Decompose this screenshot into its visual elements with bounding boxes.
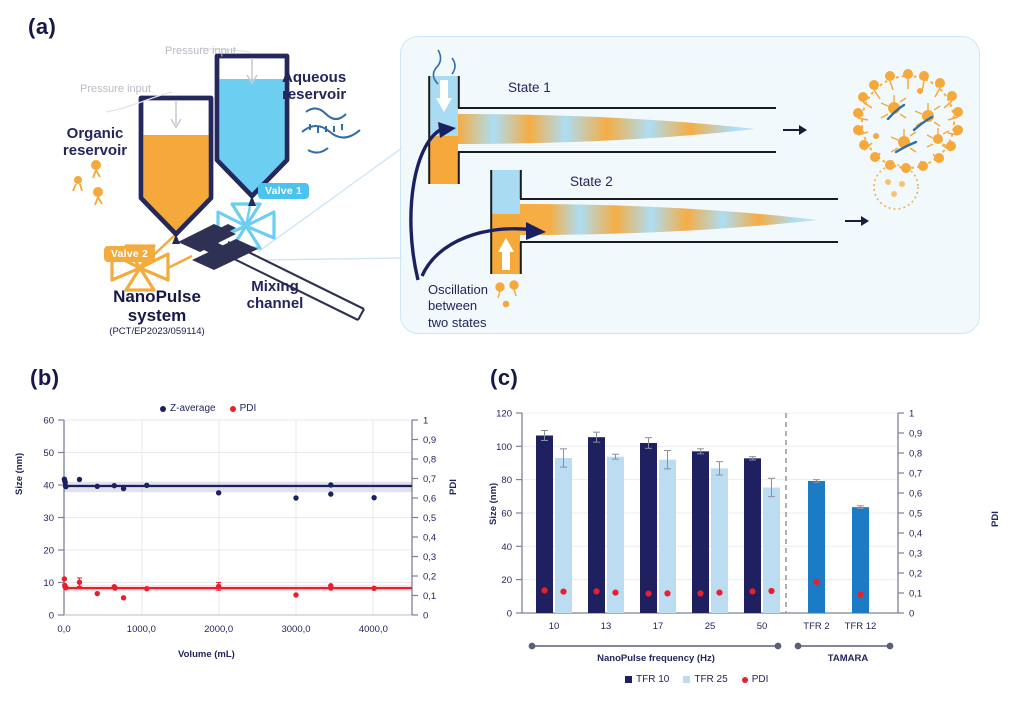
panel-b-data-point (77, 477, 82, 482)
oscillation-label-line3: two states (428, 315, 518, 331)
panel-b-data-point (95, 484, 100, 489)
panel-c-letter: (c) (490, 365, 518, 391)
panel-c-group-axis-arrows (486, 638, 1016, 660)
panel-c-pdi-point (664, 590, 670, 596)
panel-b-data-point (293, 495, 298, 500)
system-name-line1: NanoPulse (72, 288, 242, 307)
panel-b-y2-tick-labels: 00,10,20,30,40,50,60,70,80,91 (423, 416, 436, 622)
panel-a: (a) (0, 0, 1024, 355)
panel-b-data-point (328, 585, 333, 590)
state-1-outlet-arrow (783, 125, 807, 135)
legend-label-pdi-c: PDI (752, 674, 769, 685)
legend-label-tfr25: TFR 25 (694, 674, 727, 685)
panel-c-pdi-point (768, 588, 774, 594)
svg-text:80: 80 (501, 475, 512, 486)
panel-b-data-point (63, 585, 68, 590)
svg-text:0: 0 (909, 609, 914, 620)
panel-c-bar-tamara (808, 481, 825, 613)
svg-text:1: 1 (909, 409, 914, 420)
lipid-particles (73, 160, 103, 205)
panel-c-bar-tfr10 (692, 451, 709, 613)
panel-b-data-point (95, 591, 100, 596)
svg-text:120: 120 (496, 409, 512, 420)
svg-text:0,9: 0,9 (909, 429, 922, 440)
svg-text:TFR 2: TFR 2 (803, 621, 829, 632)
svg-text:17: 17 (653, 621, 664, 632)
svg-text:0,7: 0,7 (423, 474, 436, 485)
svg-text:0,4: 0,4 (909, 529, 922, 540)
legend-item-pdi-c: PDI (742, 674, 769, 685)
panel-b-x-tick-labels: 0,01000,02000,03000,04000,0 (57, 624, 387, 635)
svg-text:20: 20 (43, 546, 54, 557)
panel-c-group-label-nanopulse: NanoPulse frequency (Hz) (576, 653, 736, 664)
state-2-outlet-arrow (845, 216, 869, 226)
svg-text:30: 30 (43, 513, 54, 524)
svg-text:0: 0 (423, 611, 428, 622)
svg-text:4000,0: 4000,0 (359, 624, 388, 635)
panel-b-data-point (62, 576, 67, 581)
panel-c-x-tick-labels: 1013172550TFR 2TFR 12 (549, 621, 877, 632)
panel-b-data-point (144, 586, 149, 591)
aqueous-reservoir-label-line1: Aqueous (282, 70, 382, 87)
svg-text:0,6: 0,6 (909, 489, 922, 500)
panel-b-y-tick-labels: 0102030405060 (43, 416, 54, 622)
panel-c-ylabel: Size (nm) (488, 483, 499, 525)
panel-b-data-point (112, 483, 117, 488)
panel-c-legend: TFR 10 TFR 25 PDI (625, 674, 768, 685)
oscillation-label-line1: Oscillation (428, 282, 518, 298)
svg-text:20: 20 (501, 575, 512, 586)
svg-text:25: 25 (705, 621, 716, 632)
organic-reservoir-label-line2: reservoir (50, 143, 140, 160)
svg-text:60: 60 (43, 416, 54, 427)
state-2-group: State 2 (491, 170, 869, 307)
svg-text:0: 0 (507, 609, 512, 620)
svg-text:2000,0: 2000,0 (204, 624, 233, 635)
svg-text:40: 40 (501, 542, 512, 553)
panel-c-pdi-point (857, 592, 863, 598)
panel-b-data-point (328, 482, 333, 487)
svg-text:10: 10 (549, 621, 560, 632)
panel-b-data-point (112, 585, 117, 590)
panel-c-group-label-tamara: TAMARA (768, 653, 928, 664)
svg-text:1: 1 (423, 416, 428, 427)
organic-reservoir-label-line1: Organic (50, 126, 140, 143)
panel-c-bar-tfr10 (588, 437, 605, 613)
svg-text:0,5: 0,5 (909, 509, 922, 520)
panel-c-pdi-point (541, 587, 547, 593)
panel-b-ylabel: Size (nm) (14, 453, 25, 495)
panel-b-letter: (b) (30, 365, 60, 391)
panel-b-data-point (121, 486, 126, 491)
svg-text:60: 60 (501, 509, 512, 520)
svg-text:0,0: 0,0 (57, 624, 70, 635)
svg-text:0,9: 0,9 (423, 435, 436, 446)
legend-item-tfr25: TFR 25 (683, 674, 727, 685)
mixing-chip (178, 224, 258, 270)
svg-text:0,1: 0,1 (423, 591, 436, 602)
panel-c-pdi-point (697, 590, 703, 596)
patent-number: (PCT/EP2023/059114) (72, 326, 242, 337)
panel-b-xlabel: Volume (mL) (178, 649, 235, 660)
panel-c-pdi-point (645, 591, 651, 597)
svg-text:10: 10 (43, 578, 54, 589)
panel-c-bar-tfr10 (640, 443, 657, 613)
panel-b-data-layer (62, 476, 412, 600)
pressure-input-left-label: Pressure input (80, 83, 151, 95)
panel-b: (b) Z-average PDI (0, 355, 480, 705)
svg-text:50: 50 (43, 448, 54, 459)
panel-c-pdi-point (612, 590, 618, 596)
panel-b-data-point (328, 491, 333, 496)
panel-b-data-point (63, 484, 68, 489)
panel-c-bar-tfr25 (763, 488, 780, 614)
panel-c-pdi-point (560, 589, 566, 595)
rna-strands (302, 108, 360, 152)
svg-text:0,3: 0,3 (423, 552, 436, 563)
panel-b-data-point (371, 495, 376, 500)
svg-text:0: 0 (49, 611, 54, 622)
legend-label-tfr10: TFR 10 (636, 674, 669, 685)
svg-text:13: 13 (601, 621, 612, 632)
state-2-label-text: State 2 (570, 174, 613, 189)
panel-c-y2label: PDI (990, 511, 1001, 527)
panel-b-y2label: PDI (448, 479, 459, 495)
panel-c-pdi-point (593, 588, 599, 594)
svg-text:0,8: 0,8 (423, 455, 436, 466)
panel-c: (c) 020406080100120 (480, 355, 1024, 705)
pressure-input-right-label: Pressure input (165, 45, 236, 57)
panel-c-y2-tick-labels: 00,10,20,30,40,50,60,70,80,91 (909, 409, 922, 620)
legend-item-tfr10: TFR 10 (625, 674, 669, 685)
aqueous-reservoir-label-line2: reservoir (282, 87, 382, 104)
svg-text:0,2: 0,2 (909, 569, 922, 580)
svg-text:0,5: 0,5 (423, 513, 436, 524)
system-name-line2: system (72, 307, 242, 326)
panel-b-plot: 0102030405060 00,10,20,30,40,50,60,70,80… (12, 410, 472, 645)
valve-2-badge: Valve 2 (104, 246, 155, 262)
panel-b-data-point (144, 483, 149, 488)
svg-text:0,2: 0,2 (423, 572, 436, 583)
panel-b-data-point (121, 595, 126, 600)
svg-text:1000,0: 1000,0 (127, 624, 156, 635)
panel-c-pdi-point (716, 590, 722, 596)
svg-text:0,4: 0,4 (423, 533, 436, 544)
svg-text:0,6: 0,6 (423, 494, 436, 505)
organic-liquid (138, 135, 216, 245)
svg-text:40: 40 (43, 481, 54, 492)
state-1-label-text: State 1 (508, 80, 551, 95)
tfr-25-swatch-icon (683, 676, 690, 683)
panel-b-data-point (216, 490, 221, 495)
panel-b-data-point (293, 592, 298, 597)
panel-c-pdi-point (813, 579, 819, 585)
tfr-10-swatch-icon (625, 676, 632, 683)
svg-text:0,8: 0,8 (909, 449, 922, 460)
svg-text:3000,0: 3000,0 (281, 624, 310, 635)
svg-text:0,7: 0,7 (909, 469, 922, 480)
panel-c-pdi-point (749, 588, 755, 594)
pdi-marker-icon-c (742, 677, 748, 683)
panel-c-plot: 020406080100120 00,10,20,30,40,50,60,70,… (486, 405, 1016, 645)
mixing-channel-label-line2: channel (232, 296, 318, 313)
panel-b-data-point (77, 580, 82, 585)
panel-c-bar-tfr10 (536, 436, 553, 614)
oscillation-label-line2: between (428, 298, 518, 314)
mixing-channel-label-line1: Mixing (232, 279, 318, 296)
svg-text:0,3: 0,3 (909, 549, 922, 560)
panel-c-data-layer (536, 431, 869, 614)
svg-text:50: 50 (757, 621, 768, 632)
panel-b-data-point (216, 584, 221, 589)
panel-b-data-point (371, 586, 376, 591)
svg-text:TFR 12: TFR 12 (845, 621, 877, 632)
panel-c-bar-tfr25 (659, 460, 676, 613)
lipid-nanoparticle-illustration (853, 69, 963, 209)
svg-text:100: 100 (496, 442, 512, 453)
valve-1-badge: Valve 1 (258, 183, 309, 199)
state-1-group: State 1 (429, 50, 807, 184)
svg-text:0,1: 0,1 (909, 589, 922, 600)
panel-c-gridlines (522, 413, 898, 580)
